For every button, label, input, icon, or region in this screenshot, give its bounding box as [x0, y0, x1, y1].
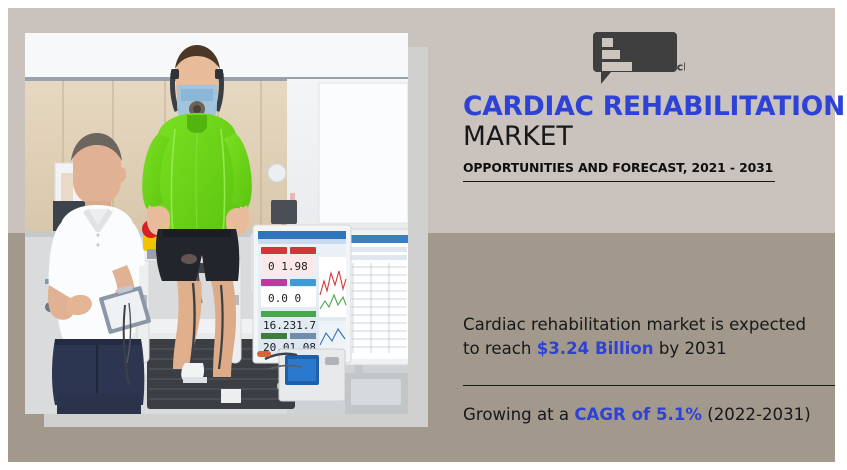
stat-cagr-prefix: Growing at a — [463, 405, 574, 424]
cardiac-stress-test-photo: 0 1.98 0.0 0 16.231.7 20.01.08 — [25, 33, 408, 414]
content-column: Allied Market Research CARDIAC REHABILIT… — [455, 8, 835, 462]
allied-market-research-logo: Allied Market Research — [585, 30, 685, 86]
title-line-secondary: MARKET — [463, 122, 835, 152]
stat-cagr: Growing at a CAGR of 5.1% (2022-2031) — [463, 403, 835, 427]
stat-market-value: Cardiac rehabilitation market is expecte… — [463, 313, 825, 362]
svg-text:0.0 0: 0.0 0 — [268, 292, 301, 305]
stat-cagr-suffix: (2022-2031) — [702, 405, 811, 424]
svg-text:0 1.98: 0 1.98 — [268, 260, 308, 273]
infographic-poster: 0 1.98 0.0 0 16.231.7 20.01.08 — [0, 0, 847, 470]
svg-text:16.231.7: 16.231.7 — [263, 319, 316, 332]
page-title: CARDIAC REHABILITATION MARKET — [463, 93, 835, 151]
stat-market-value-suffix: by 2031 — [654, 339, 727, 358]
title-line-primary: CARDIAC REHABILITATION — [463, 93, 835, 122]
stat-market-value-highlight: $3.24 Billion — [537, 339, 654, 358]
report-subtitle: OPPORTUNITIES AND FORECAST, 2021 - 2031 — [463, 160, 775, 182]
logo-text-research: Research — [634, 61, 685, 74]
stat-divider — [463, 385, 835, 386]
stat-cagr-highlight: CAGR of 5.1% — [574, 405, 702, 424]
